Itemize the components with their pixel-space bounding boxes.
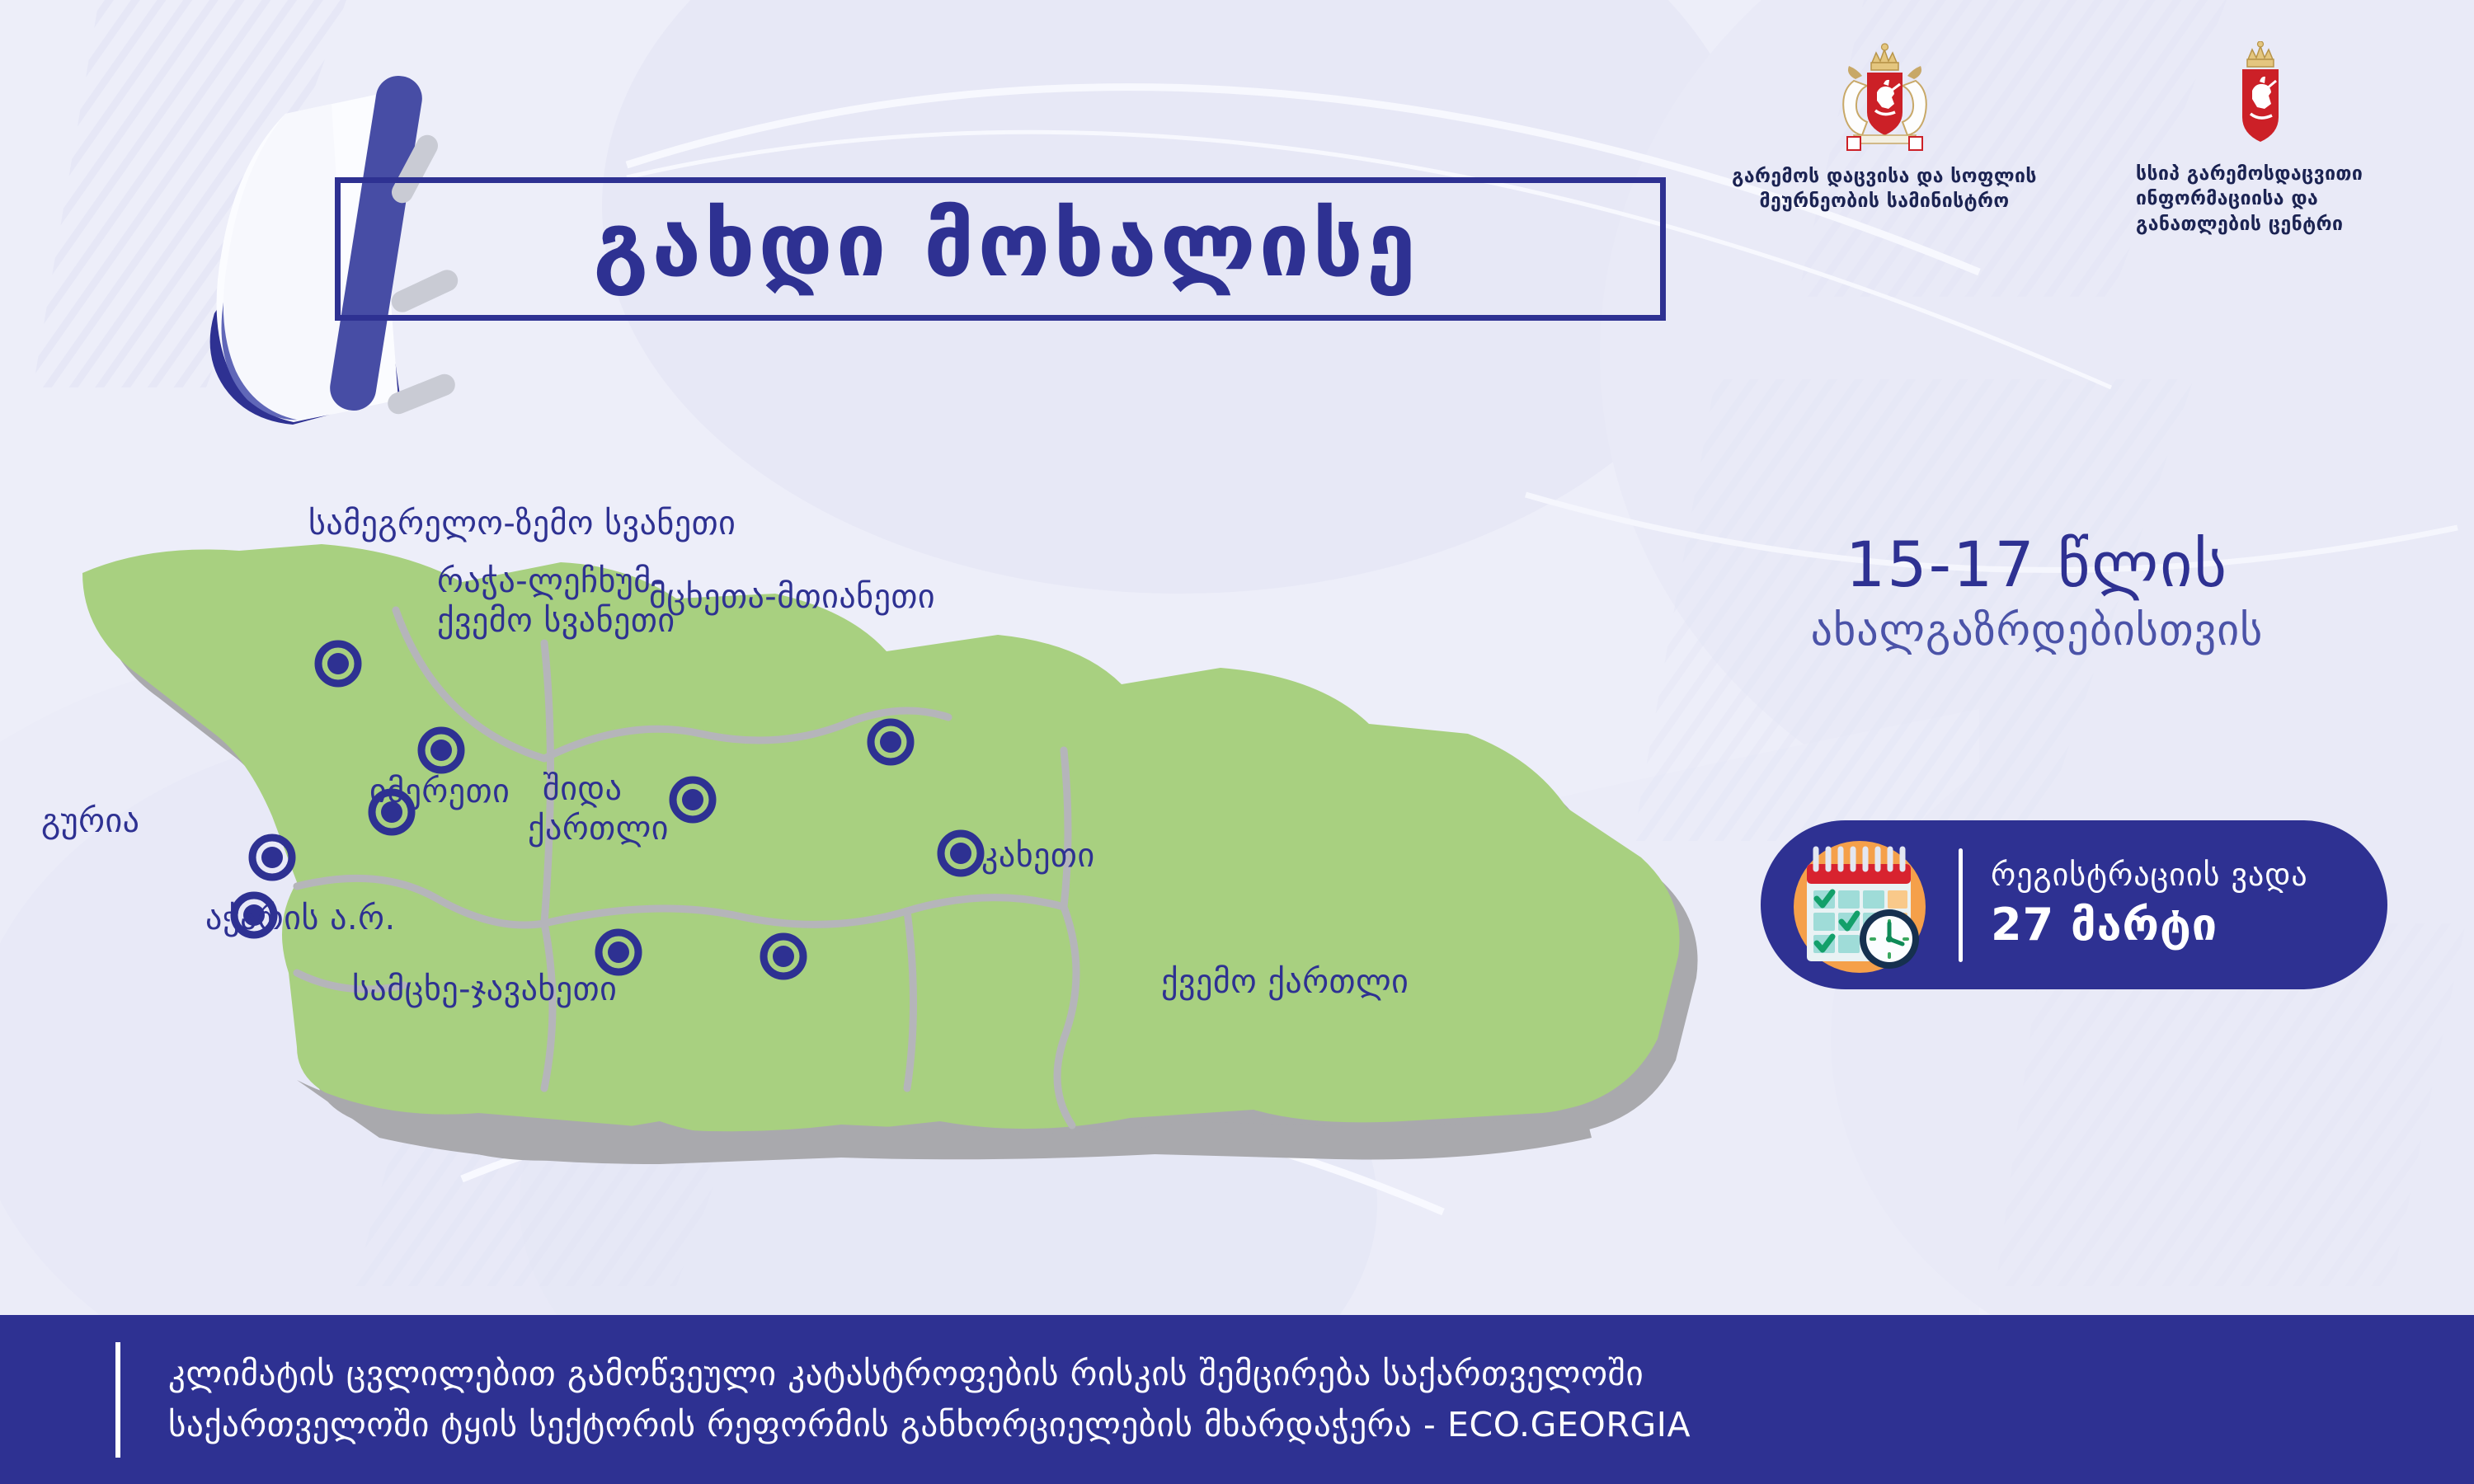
map-graphic [49, 511, 1748, 1237]
map-label-kvemo-kartli: ქვემო ქართლი [1161, 964, 1409, 1001]
center-logo: სსიპ გარემოსდაცვითი ინფორმაციისა და განა… [2136, 41, 2383, 237]
ministry-caption-line2: მეურნეობის სამინისტრო [1724, 189, 2045, 214]
map-label-guria: გურია [41, 803, 140, 840]
registration-deadline-badge: რეგისტრაციის ვადა 27 მარტი [1761, 820, 2387, 989]
center-caption-line3: განათლების ცენტრი [2136, 212, 2383, 237]
ministry-caption-line1: გარემოს დაცვისა და სოფლის [1724, 164, 2045, 189]
georgia-coat-of-arms-icon [1829, 41, 1940, 153]
map-label-imereti: იმერეთი [369, 773, 510, 810]
banner-accent-bar [115, 1342, 120, 1458]
map-label-kakheti: კახეთი [981, 838, 1095, 875]
map-label-shida-kartli-line2: ქართლი [528, 810, 669, 847]
ministry-logo: გარემოს დაცვისა და სოფლის მეურნეობის სამ… [1724, 41, 2045, 214]
map-label-samegrelo: სამეგრელო-ზემო სვანეთი [308, 505, 736, 542]
georgia-region-map: სამეგრელო-ზემო სვანეთი რაჭა-ლეჩხუმ- ქვემ… [49, 511, 1748, 1237]
map-label-racha-line1: რაჭა-ლეჩხუმ- [437, 563, 664, 599]
badge-divider [1959, 848, 1963, 962]
age-range: 15-17 წლის [1699, 528, 2375, 601]
age-subtitle: ახალგაზრდებისთვის [1699, 606, 2375, 655]
map-label-samtskhe-javakheti: სამცხე-ჯავახეთი [352, 971, 617, 1008]
deadline-date: 27 მარტი [1991, 899, 2308, 952]
banner-line-1: კლიმატის ცვლილებით გამოწვეული კატასტროფე… [168, 1349, 1691, 1400]
project-banner: კლიმატის ცვლილებით გამოწვეული კატასტროფე… [0, 1315, 2474, 1484]
map-label-shida-kartli-line1: შიდა [543, 771, 622, 807]
center-caption-line2: ინფორმაციისა და [2136, 186, 2383, 211]
page-title: გახდი მოხალისე [363, 191, 1649, 298]
deadline-label: რეგისტრაციის ვადა [1991, 857, 2308, 894]
poster-canvas: გახდი მოხალისე [0, 0, 2474, 1484]
georgia-small-coat-of-arms-icon [2222, 41, 2298, 150]
map-label-racha-line2: ქვემო სვანეთი [437, 603, 675, 639]
calendar-clock-icon [1789, 831, 1937, 979]
banner-line-2: საქართველოში ტყის სექტორის რეფორმის განხ… [168, 1400, 1691, 1451]
center-caption-line1: სსიპ გარემოსდაცვითი [2136, 162, 2383, 186]
map-label-mtskheta-mtianeti: მცხეთა-მთიანეთი [649, 579, 935, 616]
logo-group: გარემოს დაცვისა და სოფლის მეურნეობის სამ… [1724, 41, 2383, 237]
map-label-adjara: აჭარის ა.რ. [205, 900, 396, 937]
